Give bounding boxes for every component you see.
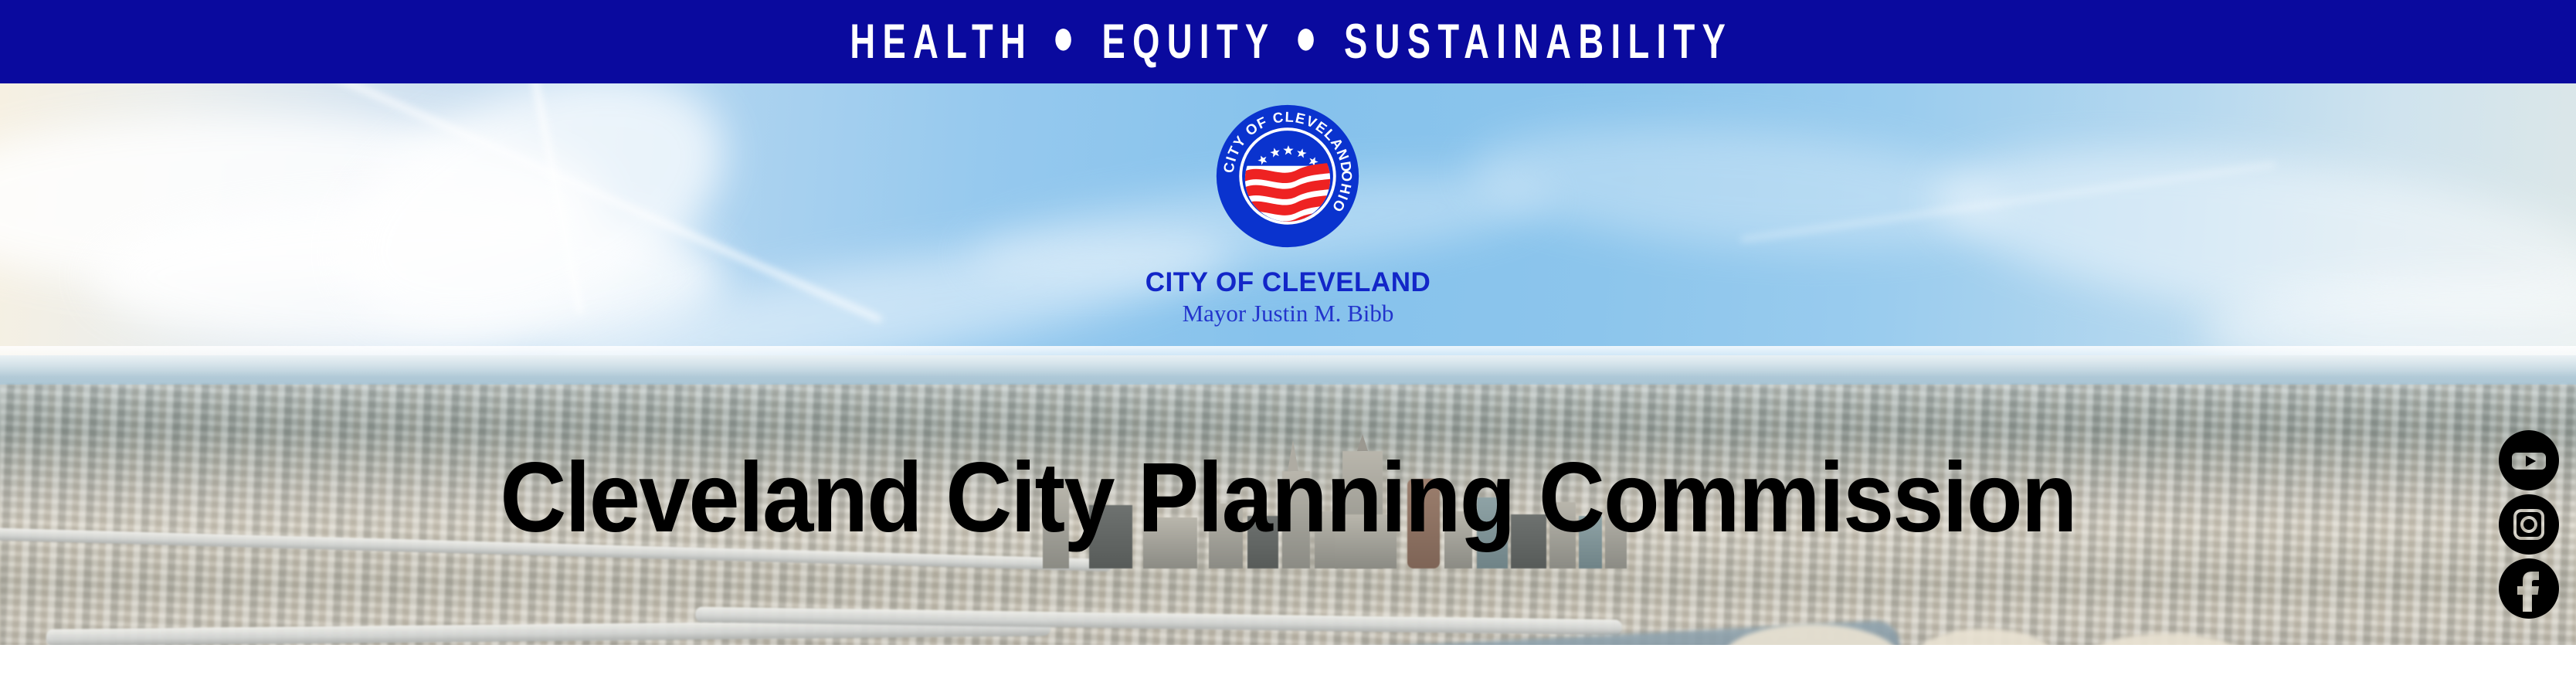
hero-photo (0, 83, 2576, 645)
skyscraper (1043, 485, 1069, 568)
skyscraper-base (1335, 514, 1397, 568)
horizon-haze (0, 346, 2576, 377)
tagline-word-equity: EQUITY (1102, 15, 1275, 69)
skyscraper (1444, 511, 1472, 568)
skyscraper (1143, 517, 1197, 568)
tagline-bar: HEALTH ● EQUITY ● SUSTAINABILITY (0, 0, 2576, 83)
skyscraper (1579, 516, 1602, 568)
downtown-skyline (1027, 429, 1630, 568)
terminal-tower (1282, 471, 1310, 568)
tagline-separator-1: ● (1049, 12, 1086, 63)
key-tower-spire (1357, 434, 1368, 451)
skyscraper (1247, 516, 1278, 568)
skyscraper (1477, 497, 1508, 568)
tagline-word-sustainability: SUSTAINABILITY (1344, 15, 1733, 69)
skyscraper (1089, 505, 1132, 568)
instagram-link[interactable] (2498, 494, 2560, 555)
skyscraper (1209, 504, 1243, 568)
tagline-separator-2: ● (1291, 12, 1329, 63)
skyscraper (1407, 479, 1440, 568)
tagline-word-health: HEALTH (850, 15, 1033, 69)
facebook-link[interactable] (2498, 558, 2560, 619)
banner-page: HEALTH ● EQUITY ● SUSTAINABILITY (0, 0, 2576, 682)
social-links (2498, 429, 2561, 622)
skyscraper (1605, 505, 1627, 568)
bottom-white-strip (0, 645, 2576, 682)
terminal-tower-spire (1288, 440, 1298, 471)
tagline-text: HEALTH ● EQUITY ● SUSTAINABILITY (843, 18, 1733, 66)
skyscraper (1511, 514, 1546, 568)
skyscraper (1549, 502, 1576, 568)
youtube-link[interactable] (2498, 429, 2560, 491)
